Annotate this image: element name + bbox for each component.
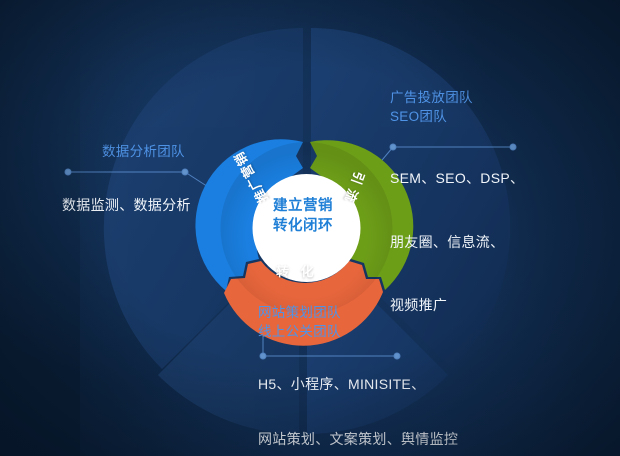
team-label: SEO团队 [390,107,524,126]
center-line-2: 转化闭环 [248,216,358,236]
sector-text-bottom: 网站策划团队 线上公关团队 H5、小程序、MINISITE、 网站策划、文案策划… [258,303,458,450]
sector-item: H5、小程序、MINISITE、 [258,374,458,396]
sector-item: SEM、SEO、DSP、 [390,168,524,190]
donut-center-label: 建立营销 转化闭环 [248,196,358,236]
center-line-1: 建立营销 [248,196,358,216]
ring-label-orange: 转 化 [276,261,318,280]
team-label: 数据分析团队 [102,142,191,161]
sector-item: 数据监测、数据分析 [62,195,191,217]
sector-text-right: 广告投放团队 SEO团队 SEM、SEO、DSP、 朋友圈、信息流、 视频推广 [390,88,524,317]
team-label: 线上公关团队 [258,322,458,341]
sector-item: 网站策划、文案策划、舆情监控 [258,429,458,451]
infographic-canvas: 推广营销 引 流 转 化 建立营销 转化闭环 广告投放团队 SEO团队 SEM、… [0,0,620,456]
sector-text-left: 数据分析团队 数据监测、数据分析 [62,142,191,217]
team-label: 广告投放团队 [390,88,524,107]
sector-item: 朋友圈、信息流、 [390,232,524,254]
team-label: 网站策划团队 [258,303,458,322]
